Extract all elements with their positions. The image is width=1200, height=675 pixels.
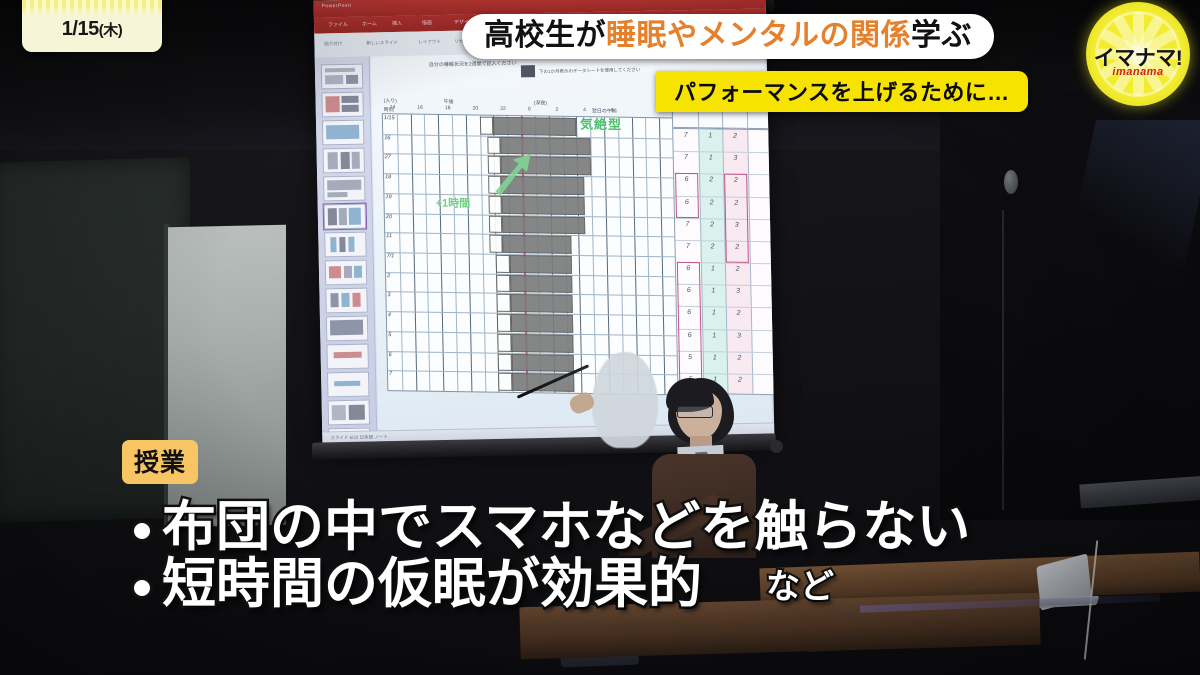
data-table-cell: 2 xyxy=(727,354,752,361)
thumbnail-block xyxy=(325,75,343,84)
axis-tick-label: 14 xyxy=(390,104,396,110)
headline-suffix: 学ぶ xyxy=(911,19,972,52)
slide-thumbnail-panel[interactable] xyxy=(315,56,378,432)
sleep-bar xyxy=(502,215,585,234)
thumbnail-block xyxy=(330,320,363,336)
axis-tick-label: 22 xyxy=(500,106,506,112)
date-value: 1/15 xyxy=(62,18,99,40)
sleep-bar xyxy=(503,235,572,254)
bullet-list: 布団の中でスマホなどを触らない 短時間の仮眠が効果的 など xyxy=(134,500,1094,614)
date-badge: 1/15(木) xyxy=(22,0,162,52)
grid-row-label: 27 xyxy=(385,155,391,161)
tag-jugyo: 授業 xyxy=(122,440,198,484)
annotation-plus-one-hour: +1時間 xyxy=(435,195,470,212)
data-table-cell: 2 xyxy=(699,177,724,184)
sleep-bar xyxy=(502,196,585,215)
data-table-cell: 3 xyxy=(723,155,748,162)
data-table-cell: 7 xyxy=(675,220,700,227)
wall-sensor-icon xyxy=(1004,170,1018,194)
thumbnail-block xyxy=(325,96,339,112)
thumbnail-block xyxy=(341,293,349,307)
axis-tick-label: 6 xyxy=(611,108,614,114)
thumbnail-block xyxy=(330,293,338,307)
thumbnail-block xyxy=(349,405,365,420)
data-table-cell: 1 xyxy=(698,154,723,161)
sleep-prep-cell xyxy=(497,314,511,332)
bullets-suffix: など xyxy=(766,559,834,608)
data-table-body: 7121171311622262222723327222261222613116… xyxy=(672,128,774,396)
thumbnail-block xyxy=(328,208,337,225)
sleep-prep-cell xyxy=(489,235,503,253)
toolbar-item-2[interactable]: レイアウト xyxy=(418,39,441,45)
ribbon-tab-3[interactable]: 描画 xyxy=(422,19,432,26)
sleep-prep-cell xyxy=(488,215,502,233)
slide-thumbnail[interactable] xyxy=(327,372,369,398)
sleep-prep-cell xyxy=(498,334,512,352)
bullet-text: 短時間の仮眠が効果的 xyxy=(162,557,702,612)
subheadline-banner: パフォーマンスを上げるために… xyxy=(656,71,1028,112)
sleep-bar xyxy=(493,117,576,136)
grid-row-label: 1/15 xyxy=(384,115,395,121)
slide-thumbnail[interactable] xyxy=(322,120,364,146)
axis-tick-label: 2 xyxy=(555,107,558,113)
grid-row-label: 2 xyxy=(387,273,390,279)
data-table-cell: 2 xyxy=(725,266,750,273)
slide-sub-caption: 下の1か月表示のデータシートを使用してください xyxy=(539,67,640,75)
thumbnail-block xyxy=(327,192,347,197)
data-table-cell: 3 xyxy=(727,332,752,339)
grid-row-label: 7/1 xyxy=(387,253,395,259)
axis-tick-label: 4 xyxy=(583,107,586,113)
statusbar-text: スライド 6/22 日本語 ノート xyxy=(330,434,388,441)
slide-thumbnail[interactable] xyxy=(324,204,366,230)
tag-jugyo-label: 授業 xyxy=(134,449,186,477)
thumbnail-block xyxy=(330,237,336,252)
data-table-highlight-box xyxy=(677,262,702,395)
thumbnail-block xyxy=(326,125,359,140)
thumbnail-block xyxy=(325,68,355,73)
data-table-cell: 1 xyxy=(702,332,727,339)
grid-row-label: 20 xyxy=(386,214,392,220)
slide-thumbnail[interactable] xyxy=(324,232,366,258)
sleep-prep-cell xyxy=(498,353,512,371)
thumbnail-block xyxy=(341,152,350,169)
sleep-data-table: 睡眠時間寝入り(あり)(寝起き)(あり)熟睡(子ども)(あり)(眠気)(あり)7… xyxy=(671,88,774,396)
powerpoint-title: PowerPoint xyxy=(322,3,352,10)
toolbar-item-1[interactable]: 新しいスライド xyxy=(366,40,398,47)
axis-tick-label: 0 xyxy=(528,106,531,112)
sleep-bar xyxy=(511,294,574,313)
wall-seam xyxy=(1002,210,1004,510)
grid-row-label: 5 xyxy=(388,332,391,338)
slide-thumbnail[interactable] xyxy=(322,148,364,174)
grid-row-label: 3 xyxy=(387,293,390,299)
sleep-bar xyxy=(510,275,573,294)
thumbnail-block xyxy=(344,266,352,278)
data-table-cell: 7 xyxy=(674,154,699,161)
thumbnail-block xyxy=(352,152,360,169)
data-table-highlight-box xyxy=(724,174,748,263)
sleep-bar xyxy=(512,354,575,373)
slide-thumbnail[interactable] xyxy=(325,288,367,314)
thumbnail-block xyxy=(349,208,361,225)
subheadline-text: パフォーマンスを上げるために… xyxy=(674,80,1010,105)
slide-thumbnail[interactable] xyxy=(326,344,368,370)
grid-row-label: 6 xyxy=(389,352,392,358)
sleep-bar xyxy=(510,255,573,274)
thumbnail-block xyxy=(328,152,338,169)
toolbar-item-0[interactable]: 貼り付け xyxy=(324,41,342,47)
annotation-kizetsu: 気絶型 xyxy=(580,114,622,134)
date-text: 1/15(木) xyxy=(22,18,162,41)
data-table-cell: 3 xyxy=(726,288,751,295)
bullet-dot-icon xyxy=(134,523,150,539)
data-table-cell: 1 xyxy=(701,265,726,272)
thumbnail-block xyxy=(341,96,358,103)
slide-thumbnail[interactable] xyxy=(323,176,365,202)
data-table-cell: 2 xyxy=(726,310,751,317)
thumbnail-block xyxy=(346,75,358,84)
slide-caption: 自分の睡眠状況を2週間で記入ください xyxy=(429,60,517,69)
slide-note-box xyxy=(521,65,535,77)
logo-romaji: imanama xyxy=(1086,66,1190,78)
headline-banner: 高校生が睡眠やメンタルの関係学ぶ xyxy=(462,14,994,59)
green-arrow-icon xyxy=(489,149,536,196)
sleep-prep-cell xyxy=(499,373,513,391)
data-table-cell: 2 xyxy=(700,243,725,250)
axis-label-midnight: (深夜) xyxy=(534,99,547,106)
bullet-dot-icon xyxy=(134,580,150,596)
slide-thumbnail[interactable] xyxy=(321,92,363,118)
sleep-prep-cell xyxy=(488,196,502,214)
thumbnail-block xyxy=(339,208,347,225)
date-badge-stripes xyxy=(22,0,162,16)
list-item: 布団の中でスマホなどを触らない xyxy=(134,500,1094,555)
data-table-cell: 1 xyxy=(701,309,726,316)
sleep-prep-cell xyxy=(497,274,511,292)
glasses-icon xyxy=(677,406,713,418)
axis-tick-label: 18 xyxy=(445,105,451,111)
headline-prefix: 高校生が xyxy=(484,19,606,52)
thumbnail-block xyxy=(339,237,345,252)
slide-thumbnail[interactable] xyxy=(321,64,363,90)
data-table-highlight-box xyxy=(675,173,699,218)
ribbon-tab-1[interactable]: ホーム xyxy=(362,20,377,27)
data-table-cell: 2 xyxy=(700,221,725,228)
axis-tick-label: 20 xyxy=(473,105,479,111)
thumbnail-block xyxy=(327,180,361,191)
thumbnail-block xyxy=(334,352,362,359)
broadcast-frame: PowerPoint ファイル ホーム 挿入 描画 デザイン 画面切り替え 貼り… xyxy=(0,0,1200,675)
data-table-cell: 1 xyxy=(701,287,726,294)
grid-row-label: 16 xyxy=(384,135,390,141)
data-table-cell: 2 xyxy=(723,133,748,140)
grid-row-label: 18 xyxy=(385,174,391,180)
ribbon-tab-2[interactable]: 挿入 xyxy=(392,20,402,27)
slide-thumbnail[interactable] xyxy=(326,316,368,342)
grid-row-label: 11 xyxy=(386,233,392,239)
data-table-cell: 7 xyxy=(673,132,698,139)
date-day-of-week: (木) xyxy=(99,22,123,39)
data-table-cell: 2 xyxy=(699,199,724,206)
thumbnail-block xyxy=(348,237,354,252)
ribbon-tab-0[interactable]: ファイル xyxy=(328,21,348,28)
thumbnail-block xyxy=(352,293,360,307)
grid-row-label: 19 xyxy=(385,194,391,200)
sleep-prep-cell xyxy=(480,117,494,135)
list-item: 短時間の仮眠が効果的 など xyxy=(134,557,1094,612)
thumbnail-block xyxy=(329,266,341,278)
bullet-text: 布団の中でスマホなどを触らない xyxy=(162,500,970,555)
data-table-cell: 1 xyxy=(702,354,727,361)
sleep-bar xyxy=(511,314,574,333)
data-table-cell: 1 xyxy=(698,132,723,139)
slide-thumbnail[interactable] xyxy=(325,260,367,286)
sleep-prep-cell xyxy=(497,294,511,312)
sleep-prep-cell xyxy=(496,255,510,273)
grid-row-label: 4 xyxy=(388,312,391,318)
sleep-bar xyxy=(512,334,575,353)
thumbnail-block xyxy=(354,266,362,278)
thumbnail-block xyxy=(334,381,360,387)
channel-logo: イマナマ! imanama xyxy=(1086,2,1190,106)
grid-row-label: 7 xyxy=(389,371,392,377)
slide-thumbnail[interactable] xyxy=(328,400,370,426)
data-table-cell: 7 xyxy=(675,243,700,250)
axis-tick-label: 16 xyxy=(417,105,423,111)
thumbnail-block xyxy=(342,105,359,112)
thumbnail-block xyxy=(332,405,346,420)
headline-highlight: 睡眠やメンタルの関係 xyxy=(606,19,911,52)
